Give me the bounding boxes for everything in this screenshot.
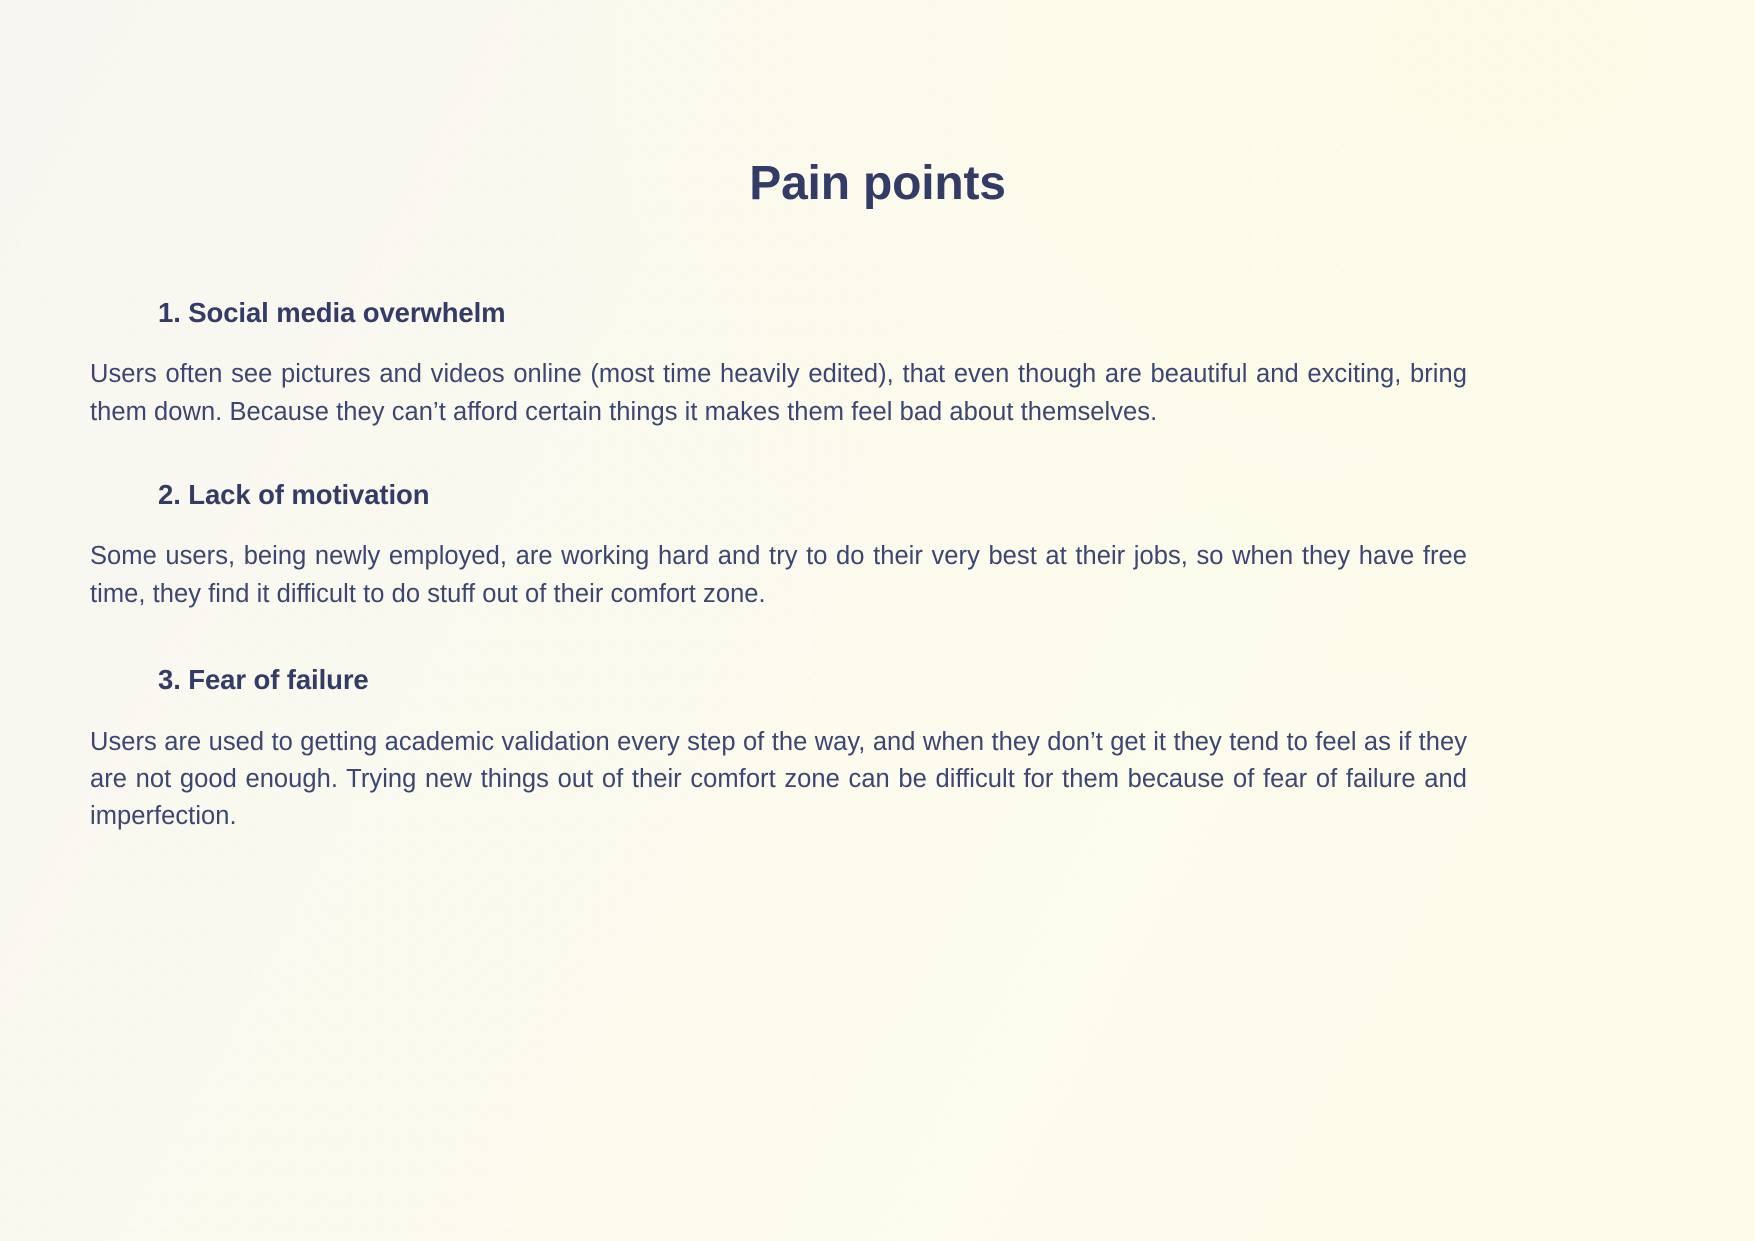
slide-content: Pain points 1. Social media overwhelm Us…	[0, 0, 1755, 1241]
pain-point-1-body: Users often see pictures and videos onli…	[90, 356, 1467, 431]
pain-point-1: 1. Social media overwhelm Users often se…	[90, 296, 1467, 431]
pain-point-3: 3. Fear of failure Users are used to get…	[90, 663, 1467, 835]
page-title: Pain points	[0, 155, 1755, 213]
pain-points-list: 1. Social media overwhelm Users often se…	[90, 296, 1467, 836]
pain-point-2: 2. Lack of motivation Some users, being …	[90, 478, 1467, 613]
pain-point-1-heading: 1. Social media overwhelm	[90, 296, 1467, 330]
pain-point-2-heading: 2. Lack of motivation	[90, 478, 1467, 512]
slide-canvas: Pain points 1. Social media overwhelm Us…	[0, 0, 1755, 1241]
pain-point-3-body: Users are used to getting academic valid…	[90, 724, 1467, 836]
pain-point-2-body: Some users, being newly employed, are wo…	[90, 538, 1467, 613]
pain-point-3-heading: 3. Fear of failure	[90, 663, 1467, 697]
